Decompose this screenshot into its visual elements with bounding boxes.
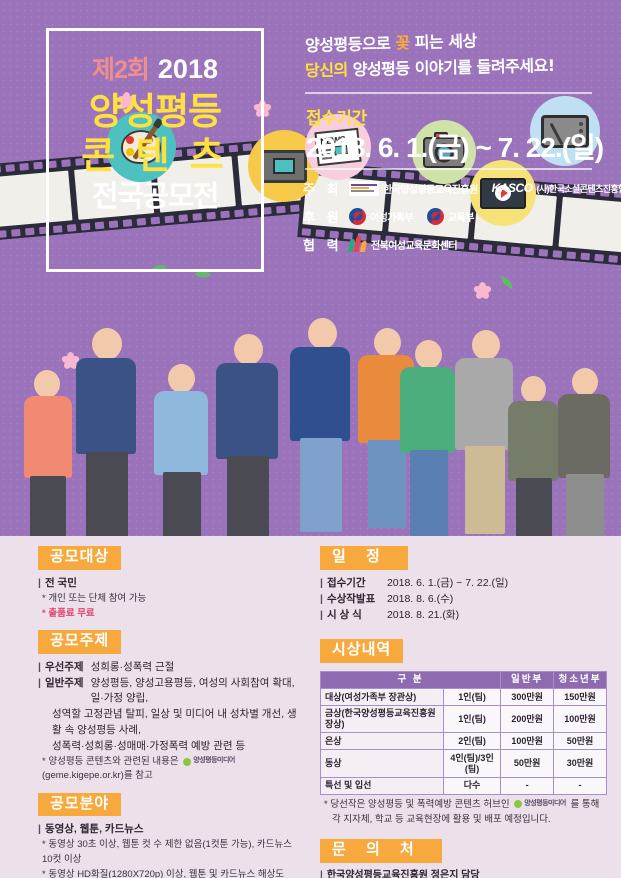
- prize-table: 구 분 일반부 청소년부 대상(여성가족부 장관상) 1인(팀) 300만원 1…: [320, 671, 607, 795]
- theme-general-row-3: 성폭력·성희롱·성매매·가정폭력 예방 관련 등: [38, 739, 298, 754]
- hub-logo-text: 양성평등미디어: [524, 799, 566, 810]
- prize-note-line2: 각 지자체, 학교 등 교육현장에 활용 및 배포 예정입니다.: [320, 813, 607, 827]
- prize-note-line1: * 당선작은 양성평등 및 폭력예방 콘텐츠 허브인 양성평등미디어 를 통해: [320, 798, 607, 812]
- hero-section: NEWS: [0, 0, 621, 540]
- schedule-row: | 시 상 식 2018. 8. 21.(화): [320, 608, 607, 623]
- org-item-kigepe: 한국양성평등교육진흥원: [349, 181, 478, 196]
- period-date: 2018. 6. 1.(금) ~ 7. 22.(일): [306, 126, 603, 166]
- bullet-bar: |: [320, 869, 323, 878]
- table-row: 대상(여성가족부 장관상) 1인(팀) 300만원 150만원: [321, 689, 607, 706]
- heading-field: 공모분야: [38, 793, 121, 817]
- kasco-logo: KASCO: [492, 181, 533, 195]
- field-main: 동영상, 웹툰, 카드뉴스: [45, 822, 144, 837]
- theme-note-pre: * 양성평등 콘텐츠와 관련된 내용은: [42, 756, 179, 767]
- prize-youth-4: -: [554, 777, 607, 794]
- schedule-label-2: 시 상 식: [327, 608, 381, 623]
- taegeuk-icon: [427, 208, 444, 225]
- contact-org-row-0: | 한국양성평등교육진흥원 정은지 담당: [320, 869, 607, 878]
- theme-general-row-2: 성역할 고정관념 탈피, 일상 및 미디어 내 성차별 개선, 생활 속 양성평…: [38, 707, 298, 737]
- blossom-icon: [474, 282, 490, 298]
- theme-general-text-1: 양성평등, 양성고용평등, 여성의 사회참여 확대, 일·가정 양립,: [91, 676, 298, 706]
- prize-count-2: 2인(팀): [443, 733, 500, 750]
- section-contact: 문 의 처 | 한국양성평등교육진흥원 정은지 담당 02-3156-6022 …: [320, 839, 607, 878]
- info-left-column: 공모대상 | 전 국민 * 개인 또는 단체 참여 가능 * 출품료 무료 공모…: [0, 536, 310, 878]
- person-figure: [72, 328, 142, 540]
- org-name-mogef: 여성가족부: [370, 209, 413, 224]
- org-key-host: 주 최: [303, 179, 349, 198]
- schedule-value-0: 2018. 6. 1.(금) ~ 7. 22.(일): [387, 576, 508, 591]
- theme-priority-text: 성희롱·성폭력 근절: [91, 660, 175, 675]
- bullet-bar: |: [320, 576, 323, 591]
- prize-count-3: 4인(팀)/3인(팀): [443, 750, 500, 778]
- prize-name-4: 특선 및 입선: [321, 777, 444, 794]
- org-name-moe: 교육부: [448, 209, 474, 224]
- theme-general-text-2: 성역할 고정관념 탈피, 일상 및 미디어 내 성차별 개선, 생활 속 양성평…: [52, 707, 298, 737]
- poster-root: NEWS: [0, 0, 621, 878]
- heading-prize: 시상내역: [320, 639, 403, 663]
- section-theme: 공모주제 | 우선주제 성희롱·성폭력 근절 | 일반주제 양성평등, 양성고용…: [38, 630, 298, 783]
- tagline-line1: 양성평등으로 꽃 피는 세상: [305, 26, 606, 58]
- taegeuk-icon: [349, 208, 366, 225]
- divider-top: [305, 92, 592, 94]
- hub-logo-text: 양성평등미디어: [193, 756, 235, 767]
- bullet-bar: |: [320, 592, 323, 607]
- poster-title: 제2회 2018 양성평등 콘 텐 츠 전국공모전: [46, 28, 264, 272]
- heading-schedule: 일 정: [320, 546, 408, 570]
- table-row: 금상(한국양성평등교육진흥원장상) 1인(팀) 200만원 100만원: [321, 705, 607, 733]
- hub-dot-icon: [183, 758, 191, 766]
- prize-count-1: 1인(팀): [443, 705, 500, 733]
- org-row-host: 주 최 한국양성평등교육진흥원 KASCO (사)한국소셜콘텐츠진흥협회: [303, 176, 613, 200]
- field-note-1: * 동영상 HD화질(1280X720p) 이상, 웹툰 및 카드뉴스 해상도 …: [38, 868, 298, 878]
- prize-name-0: 대상(여성가족부 장관상): [321, 689, 444, 706]
- bullet-bar: |: [320, 608, 323, 623]
- org-name-jeonbuk: 전북여성교육문화센터: [371, 237, 457, 252]
- prize-name-2: 은상: [321, 733, 444, 750]
- section-target: 공모대상 | 전 국민 * 개인 또는 단체 참여 가능 * 출품료 무료: [38, 546, 298, 621]
- prize-youth-0: 150만원: [554, 689, 607, 706]
- theme-priority-label: 우선주제: [45, 660, 84, 675]
- divider-bottom: [305, 168, 592, 170]
- gender-media-hub-logo: 양성평등미디어: [514, 799, 566, 810]
- person-figure: [398, 340, 460, 536]
- prize-col-general: 일반부: [501, 671, 554, 688]
- info-right-column: 일 정 | 접수기간 2018. 6. 1.(금) ~ 7. 22.(일) | …: [310, 536, 621, 878]
- gender-equality-logo: [349, 181, 379, 196]
- tagline: 양성평등으로 꽃 피는 세상 당신의 양성평등 이야기를 들려주세요!: [305, 30, 605, 79]
- heading-target: 공모대상: [38, 546, 121, 570]
- bullet-bar: |: [38, 660, 41, 675]
- prize-count-0: 1인(팀): [443, 689, 500, 706]
- schedule-label-0: 접수기간: [327, 576, 381, 591]
- heading-contact: 문 의 처: [320, 839, 442, 863]
- theme-general-label: 일반주제: [45, 676, 84, 691]
- prize-general-0: 300만원: [501, 689, 554, 706]
- person-figure: [20, 370, 78, 540]
- target-main: 전 국민: [45, 576, 77, 591]
- gender-media-hub-logo: 양성평등미디어: [183, 756, 235, 767]
- theme-priority-row: | 우선주제 성희롱·성폭력 근절: [38, 660, 298, 675]
- table-row: 은상 2인(팀) 100만원 50만원: [321, 733, 607, 750]
- schedule-row: | 접수기간 2018. 6. 1.(금) ~ 7. 22.(일): [320, 576, 607, 591]
- title-line1: 양성평등: [89, 90, 221, 134]
- org-key-sponsor: 후 원: [303, 207, 349, 226]
- schedule-label-1: 수상작발표: [327, 592, 381, 607]
- person-figure: [152, 364, 212, 540]
- theme-general-text-3: 성폭력·성희롱·성매매·가정폭력 예방 관련 등: [52, 739, 245, 754]
- target-note-0: * 개인 또는 단체 참여 가능: [38, 592, 298, 606]
- org-item-moe: 교육부: [427, 208, 474, 225]
- bullet-bar: |: [38, 676, 41, 691]
- target-main-row: | 전 국민: [38, 576, 298, 591]
- field-note-0: * 동영상 30초 이상, 웹툰 컷 수 제한 없음(1컷툰 가능), 카드뉴스…: [38, 838, 298, 867]
- title-line3: 전국공모전: [92, 180, 218, 215]
- prize-general-4: -: [501, 777, 554, 794]
- hub-dot-icon: [514, 800, 522, 808]
- person-figure: [284, 318, 356, 532]
- field-main-row: | 동영상, 웹툰, 카드뉴스: [38, 822, 298, 837]
- person-figure: [212, 334, 284, 540]
- info-panel: 공모대상 | 전 국민 * 개인 또는 단체 참여 가능 * 출품료 무료 공모…: [0, 536, 621, 878]
- prize-table-header-row: 구 분 일반부 청소년부: [321, 671, 607, 688]
- schedule-row: | 수상작발표 2018. 8. 6.(수): [320, 592, 607, 607]
- theme-note-post: (geme.kigepe.or.kr)를 참고: [42, 770, 153, 781]
- org-item-kasco: KASCO (사)한국소셜콘텐츠진흥협회: [492, 181, 621, 195]
- schedule-value-1: 2018. 8. 6.(수): [387, 592, 453, 607]
- org-name-kasco: (사)한국소셜콘텐츠진흥협회: [536, 182, 621, 195]
- person-figure: [556, 368, 614, 540]
- title-year: 2018: [158, 54, 218, 85]
- schedule-value-2: 2018. 8. 21.(화): [387, 608, 459, 623]
- prize-general-2: 100만원: [501, 733, 554, 750]
- prize-col-youth: 청소년부: [554, 671, 607, 688]
- contact-org-0: 한국양성평등교육진흥원 정은지 담당: [327, 869, 480, 878]
- prize-name-3: 동상: [321, 750, 444, 778]
- prize-general-3: 50만원: [501, 750, 554, 778]
- tagline-line2: 당신의 양성평등 이야기를 들려주세요!: [305, 53, 605, 82]
- person-figure: [506, 376, 562, 540]
- jeonbuk-logo: [349, 236, 367, 252]
- prize-count-4: 다수: [443, 777, 500, 794]
- table-row: 동상 4인(팀)/3인(팀) 50만원 30만원: [321, 750, 607, 778]
- prize-note-pre: * 당선작은 양성평등 및 폭력예방 콘텐츠 허브인: [324, 799, 510, 810]
- section-prize: 시상내역 구 분 일반부 청소년부 대상(여성가족부 장관상) 1: [320, 639, 607, 827]
- prize-note-post: 를 통해: [570, 799, 599, 810]
- org-name-kigepe: 한국양성평등교육진흥원: [383, 181, 478, 196]
- title-round: 제2회: [92, 50, 149, 86]
- table-row: 특선 및 입선 다수 - -: [321, 777, 607, 794]
- org-row-sponsor: 후 원 여성가족부 교육부: [303, 204, 613, 228]
- org-item-mogef: 여성가족부: [349, 208, 413, 225]
- org-key-cooperation: 협 력: [303, 235, 349, 254]
- target-note-free: * 출품료 무료: [38, 607, 298, 621]
- prize-youth-2: 50만원: [554, 733, 607, 750]
- prize-general-1: 200만원: [501, 705, 554, 733]
- organizations: 주 최 한국양성평등교육진흥원 KASCO (사)한국소셜콘텐츠진흥협회 후 원: [303, 176, 613, 260]
- bullet-bar: |: [38, 822, 41, 837]
- prize-name-1: 금상(한국양성평등교육진흥원장상): [321, 705, 444, 733]
- bullet-bar: |: [38, 576, 41, 591]
- heading-theme: 공모주제: [38, 630, 121, 654]
- prize-youth-1: 100만원: [554, 705, 607, 733]
- prize-col-division: 구 분: [321, 671, 501, 688]
- theme-general-row: | 일반주제 양성평등, 양성고용평등, 여성의 사회참여 확대, 일·가정 양…: [38, 676, 298, 706]
- section-field: 공모분야 | 동영상, 웹툰, 카드뉴스 * 동영상 30초 이상, 웹툰 컷 …: [38, 793, 298, 878]
- section-schedule: 일 정 | 접수기간 2018. 6. 1.(금) ~ 7. 22.(일) | …: [320, 546, 607, 623]
- org-item-jeonbuk: 전북여성교육문화센터: [349, 236, 457, 252]
- org-row-cooperation: 협 력 전북여성교육문화센터: [303, 232, 613, 256]
- title-line2: 콘 텐 츠: [81, 134, 229, 178]
- prize-youth-3: 30만원: [554, 750, 607, 778]
- theme-note: * 양성평등 콘텐츠와 관련된 내용은 양성평등미디어 (geme.kigepe…: [38, 755, 298, 784]
